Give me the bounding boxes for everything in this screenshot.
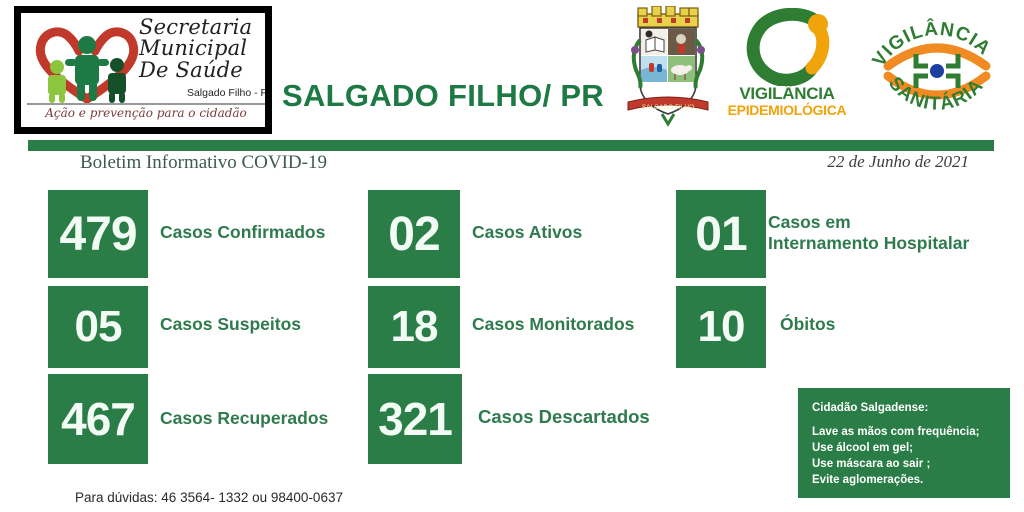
child-left-figure [48,60,66,103]
coat-of-arms-icon: SALGADO FILHO [622,6,714,128]
stat-label: Casos Descartados [478,406,728,428]
stat-label: Casos em Internamento Hospitalar [768,212,1024,253]
stat-value: 321 [368,374,462,464]
prevention-notice: Cidadão Salgadense: Lave as mãos com fre… [798,388,1010,498]
epidemiologia-swirl-icon [722,8,852,86]
prevention-item: Lave as mãos com frequência; [812,425,1010,441]
logo-line-2: Municipal [139,38,265,59]
logo-city: Salgado Filho - Pr [171,87,265,99]
logo-wordmark: Secretaria Municipal De Saúde [139,17,265,81]
secretaria-saude-logo: Secretaria Municipal De Saúde Salgado Fi… [14,6,272,134]
prevention-item: Use álcool em gel; [812,441,1010,457]
logo-line-3: De Saúde [139,60,265,81]
child-right-figure [108,58,126,103]
stat-label: Casos Monitorados [472,314,702,335]
logo-slogan: Ação e prevenção para o cidadão [21,106,265,120]
stat-value: 05 [48,286,148,368]
sanitaria-line-2: SANITÁRIA [884,73,988,115]
header-divider [28,140,994,151]
vigilancia-epidemiologica-logo: VIGILÂNCIA EPIDEMIOLÓGICA [722,8,852,126]
prevention-item: Use máscara ao sair ; [812,457,1010,473]
stat-value: 02 [368,190,460,278]
stat-label: Casos Suspeitos [160,314,400,335]
crown [638,6,698,27]
stat-value: 479 [48,190,148,278]
stat-value: 10 [676,286,766,368]
epidemiologia-line-1: VIGILÂNCIA [722,84,852,104]
vigilancia-sanitaria-logo: VIGILÂNCIA SANITÁRIA [862,4,1012,134]
prevention-heading: Cidadão Salgadense: [812,402,1010,414]
header: Secretaria Municipal De Saúde Salgado Fi… [0,0,1024,138]
stat-label: Óbitos [780,314,940,335]
stat-label: Casos Ativos [472,222,692,243]
coat-of-arms-caption: SALGADO FILHO [642,104,694,111]
bulletin-title: Boletim Informativo COVID-19 [80,152,327,174]
page-title: SALGADO FILHO/ PR [282,78,612,114]
stat-value: 467 [48,374,148,464]
heart-family-icon [31,19,143,105]
stat-value: 01 [676,190,766,278]
logo-divider [27,103,265,105]
bulletin-page: Secretaria Municipal De Saúde Salgado Fi… [0,0,1024,512]
epidemiologia-line-2: EPIDEMIOLÓGICA [722,102,852,118]
contact-info: Para dúvidas: 46 3564- 1332 ou 98400-063… [75,490,343,505]
logo-line-1: Secretaria [139,17,265,38]
prevention-item: Evite aglomerações. [812,473,1010,489]
stat-value: 18 [368,286,460,368]
bulletin-date: 22 de Junho de 2021 [827,152,969,172]
